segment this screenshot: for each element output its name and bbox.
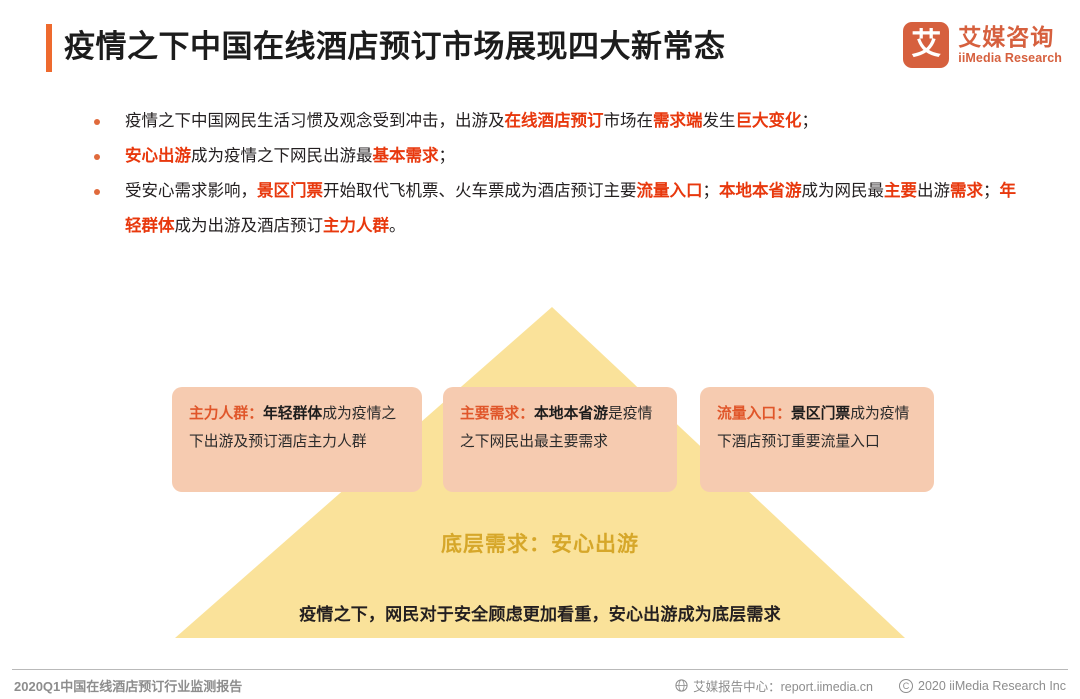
plain-text: 成为出游及酒店预订 xyxy=(175,217,324,235)
pyramid-card-1: 主力人群：年轻群体成为疫情之下出游及预订酒店主力人群 xyxy=(172,387,422,492)
list-item: 疫情之下中国网民生活习惯及观念受到冲击，出游及在线酒店预订市场在需求端发生巨大变… xyxy=(88,104,1018,139)
pyramid-card-2-strong: 本地本省游 xyxy=(534,406,608,422)
highlight-text: 需求端 xyxy=(653,112,703,130)
footer-meta: 艾媒报告中心：report.iimedia.cn C 2020 iiMedia … xyxy=(675,676,1066,695)
plain-text: 受安心需求影响， xyxy=(125,182,257,200)
copyright-icon: C xyxy=(899,679,913,693)
highlight-text: 主要 xyxy=(884,182,917,200)
logo-name-cn: 艾媒咨询 xyxy=(958,25,1062,50)
pyramid-card-1-strong: 年轻群体 xyxy=(263,406,322,422)
highlight-text: 在线酒店预订 xyxy=(505,112,604,130)
pyramid-card-row: 主力人群：年轻群体成为疫情之下出游及预订酒店主力人群 主要需求：本地本省游是疫情… xyxy=(0,387,1080,497)
highlight-text: 主力人群 xyxy=(323,217,389,235)
plain-text: 开始取代飞机票、火车票成为酒店预订主要 xyxy=(323,182,637,200)
footer-report-center-label: 艾媒报告中心：report.iimedia.cn xyxy=(693,676,873,695)
highlight-text: 本地本省游 xyxy=(719,182,802,200)
highlight-text: 流量入口 xyxy=(637,182,703,200)
pyramid-card-2-label: 主要需求： xyxy=(460,406,534,422)
plain-text: 出游 xyxy=(917,182,950,200)
pyramid-card-3: 流量入口：景区门票成为疫情下酒店预订重要流量入口 xyxy=(700,387,934,492)
bullet-dot-icon xyxy=(94,154,100,160)
pyramid-card-2: 主要需求：本地本省游是疫情之下网民出最主要需求 xyxy=(443,387,677,492)
pyramid-base-text: 疫情之下，网民对于安全顾虑更加看重，安心出游成为底层需求 xyxy=(0,600,1080,625)
footer-divider xyxy=(12,669,1068,670)
pyramid-card-3-strong: 景区门票 xyxy=(791,406,850,422)
logo-mark-icon: 艾 xyxy=(903,22,949,68)
bullet-text-1: 疫情之下中国网民生活习惯及观念受到冲击，出游及在线酒店预订市场在需求端发生巨大变… xyxy=(125,112,818,130)
highlight-text: 需求 xyxy=(950,182,983,200)
bullet-dot-icon xyxy=(94,119,100,125)
pyramid-base-title: 底层需求：安心出游 xyxy=(0,528,1080,558)
footer-copyright-label: 2020 iiMedia Research Inc xyxy=(918,679,1066,693)
plain-text: ； xyxy=(983,182,1000,200)
plain-text: 疫情之下中国网民生活习惯及观念受到冲击，出游及 xyxy=(125,112,505,130)
globe-icon xyxy=(675,679,688,692)
plain-text: ； xyxy=(703,182,720,200)
bullet-dot-icon xyxy=(94,189,100,195)
brand-logo: 艾 艾媒咨询 iiMedia Research xyxy=(903,22,1062,68)
highlight-text: 基本需求 xyxy=(373,147,439,165)
plain-text: 发生 xyxy=(703,112,736,130)
pyramid-card-3-label: 流量入口： xyxy=(717,406,791,422)
summary-bullet-list: 疫情之下中国网民生活习惯及观念受到冲击，出游及在线酒店预订市场在需求端发生巨大变… xyxy=(88,104,1018,244)
bullet-text-2: 安心出游成为疫情之下网民出游最基本需求； xyxy=(125,147,455,165)
logo-text: 艾媒咨询 iiMedia Research xyxy=(958,25,1062,66)
highlight-text: 安心出游 xyxy=(125,147,191,165)
list-item: 安心出游成为疫情之下网民出游最基本需求； xyxy=(88,139,1018,174)
plain-text: 。 xyxy=(389,217,406,235)
page-header: 疫情之下中国在线酒店预订市场展现四大新常态 艾 艾媒咨询 iiMedia Res… xyxy=(0,0,1080,92)
footer-report-name: 2020Q1中国在线酒店预订行业监测报告 xyxy=(14,676,242,695)
page-title: 疫情之下中国在线酒店预订市场展现四大新常态 xyxy=(64,24,726,70)
list-item: 受安心需求影响，景区门票开始取代飞机票、火车票成为酒店预订主要流量入口；本地本省… xyxy=(88,174,1018,244)
logo-name-en: iiMedia Research xyxy=(958,50,1062,66)
plain-text: 市场在 xyxy=(604,112,654,130)
bullet-text-3: 受安心需求影响，景区门票开始取代飞机票、火车票成为酒店预订主要流量入口；本地本省… xyxy=(125,182,1016,235)
plain-text: ； xyxy=(802,112,819,130)
plain-text: ； xyxy=(439,147,456,165)
pyramid-card-1-label: 主力人群： xyxy=(189,406,263,422)
title-accent-bar xyxy=(46,24,52,72)
highlight-text: 景区门票 xyxy=(257,182,323,200)
plain-text: 成为网民最 xyxy=(802,182,885,200)
plain-text: 成为疫情之下网民出游最 xyxy=(191,147,373,165)
highlight-text: 巨大变化 xyxy=(736,112,802,130)
footer-report-center[interactable]: 艾媒报告中心：report.iimedia.cn xyxy=(675,676,873,695)
footer-copyright: C 2020 iiMedia Research Inc xyxy=(899,679,1066,693)
